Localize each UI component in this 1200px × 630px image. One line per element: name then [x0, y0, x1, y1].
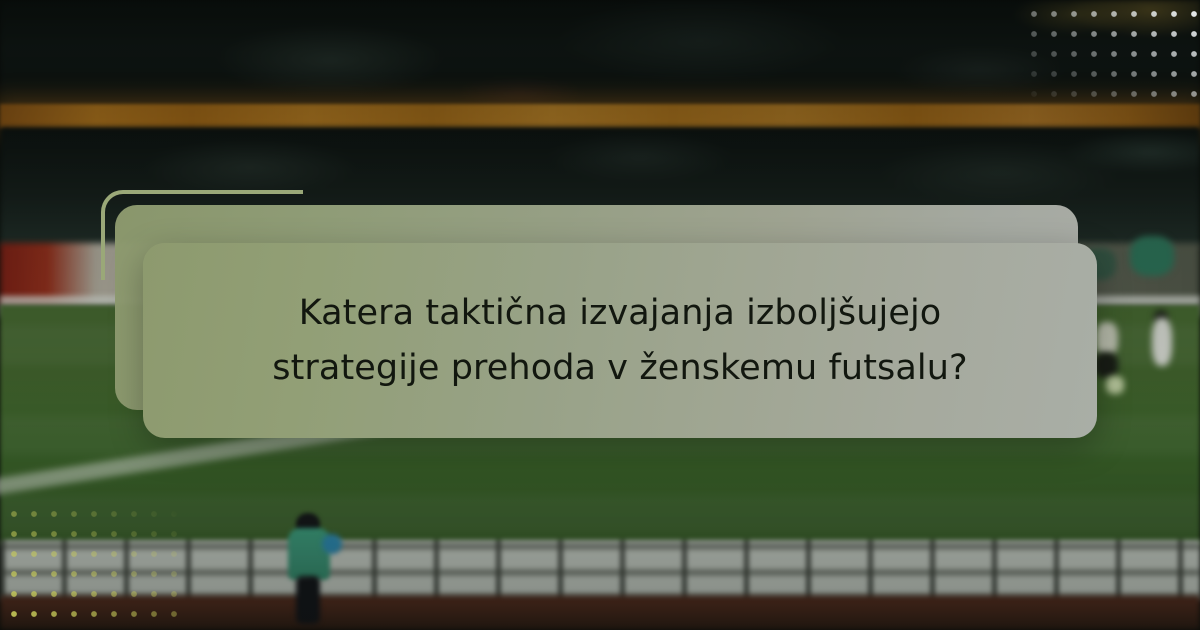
dot-grid-bottom-left-decoration: [0, 500, 180, 630]
question-card: Katera taktična izvajanja izboljšujejo s…: [143, 243, 1097, 438]
dot-grid-top-right-decoration: [1020, 0, 1200, 110]
question-card-graphic: Katera taktična izvajanja izboljšujejo s…: [0, 0, 1200, 630]
question-text: Katera taktična izvajanja izboljšujejo s…: [270, 286, 970, 395]
